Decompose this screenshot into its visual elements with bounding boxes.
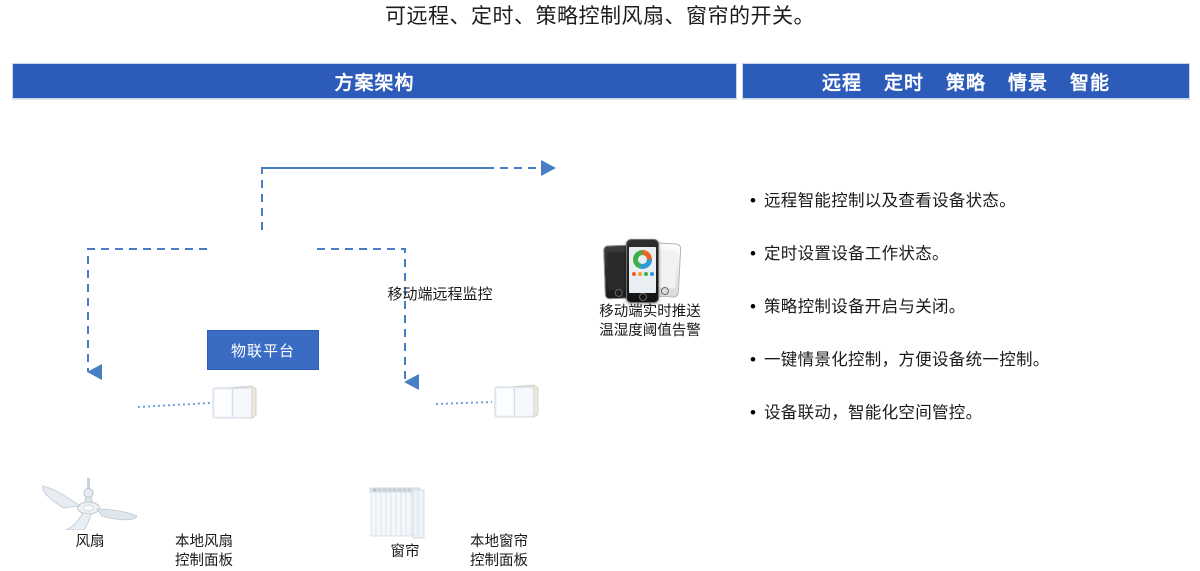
wall-switch-panel-icon-fan (212, 384, 258, 420)
section-header-architecture-label: 方案架构 (334, 68, 414, 95)
curtain-label: 窗帘 (360, 543, 450, 562)
iot-platform-label: 物联平台 (231, 340, 295, 361)
section-header-architecture: 方案架构 (12, 63, 737, 99)
list-item-text: 一键情景化控制，方便设备统一控制。 (764, 349, 1050, 371)
phone-front (626, 239, 659, 303)
list-item-text: 定时设置设备工作状态。 (764, 243, 949, 265)
feature-tag-smart: 智能 (1070, 68, 1110, 95)
phone-caption-line2: 温湿度阈值告警 (560, 322, 740, 341)
smartphone-stack-icon (604, 239, 680, 301)
list-item: • 设备联动，智能化空间管控。 (742, 402, 1192, 455)
list-item: • 策略控制设备开启与关闭。 (742, 296, 1192, 349)
slide-canvas: 可远程、定时、策略控制风扇、窗帘的开关。 方案架构 远程 定时 策略 情景 智能 (0, 0, 1200, 494)
page-title: 可远程、定时、策略控制风扇、窗帘的开关。 (0, 2, 1200, 32)
fan-panel-label-line1: 本地风扇 (175, 533, 285, 552)
architecture-diagram: 物联平台 移动端远程监控 移动端实时推送 温湿度阈值告警 (0, 100, 735, 494)
bullet-marker: • (742, 243, 764, 265)
curtain-panel-label-line1: 本地窗帘 (470, 533, 580, 552)
list-item-text: 策略控制设备开启与关闭。 (764, 296, 966, 318)
feature-tag-policy: 策略 (946, 68, 986, 95)
phone-app-dots (632, 272, 654, 276)
curtain-panel-label-line2: 控制面板 (470, 552, 580, 571)
list-item: • 一键情景化控制，方便设备统一控制。 (742, 349, 1192, 402)
bullet-marker: • (742, 190, 764, 212)
phone-caption: 移动端实时推送 温湿度阈值告警 (560, 303, 740, 341)
feature-tag-scene: 情景 (1008, 68, 1048, 95)
feature-tag-timer: 定时 (884, 68, 924, 95)
list-item: • 定时设置设备工作状态。 (742, 243, 1192, 296)
wall-switch-panel-icon-curtain (494, 383, 540, 419)
feature-list: • 远程智能控制以及查看设备状态。 • 定时设置设备工作状态。 • 策略控制设备… (742, 190, 1192, 455)
bullet-marker: • (742, 349, 764, 371)
phone-caption-line1: 移动端实时推送 (560, 303, 740, 322)
iot-platform-node[interactable]: 物联平台 (207, 330, 319, 370)
ceiling-fan-icon (40, 478, 140, 530)
list-item-text: 设备联动，智能化空间管控。 (764, 402, 982, 424)
mobile-remote-monitor-label: 移动端远程监控 (330, 285, 550, 304)
bullet-marker: • (742, 296, 764, 318)
fan-label: 风扇 (45, 533, 135, 552)
bullet-marker: • (742, 402, 764, 424)
fan-panel-label: 本地风扇 控制面板 (175, 533, 285, 571)
phone-chart-icon (633, 250, 652, 269)
feature-tag-remote: 远程 (822, 68, 862, 95)
window-curtain-icon (368, 486, 430, 542)
curtain-panel-label: 本地窗帘 控制面板 (470, 533, 580, 571)
list-item: • 远程智能控制以及查看设备状态。 (742, 190, 1192, 243)
list-item-text: 远程智能控制以及查看设备状态。 (764, 190, 1016, 212)
section-header-features: 远程 定时 策略 情景 智能 (742, 63, 1190, 99)
fan-panel-label-line2: 控制面板 (175, 552, 285, 571)
